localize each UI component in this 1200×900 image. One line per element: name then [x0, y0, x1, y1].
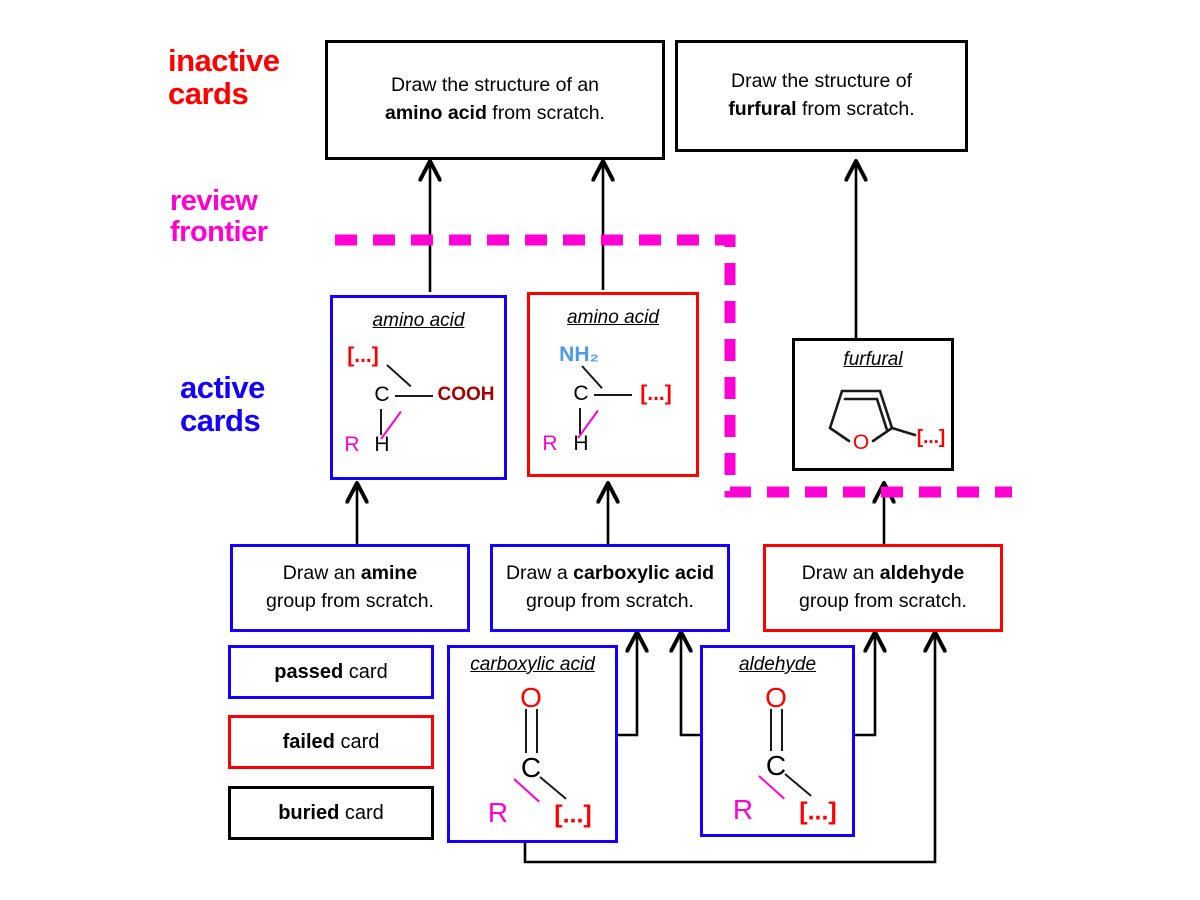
label-review-frontier: review frontier	[170, 186, 268, 249]
label-active-line2: cards	[180, 404, 265, 437]
review-frontier-path	[335, 240, 1012, 492]
label-frontier-line2: frontier	[170, 217, 268, 248]
label-inactive-line1: inactive	[168, 44, 279, 77]
label-frontier-line1: review	[170, 186, 268, 217]
diagram-canvas: inactive cards review frontier active ca…	[0, 0, 1200, 900]
label-active-line1: active	[180, 371, 265, 404]
label-active-cards: active cards	[180, 371, 265, 438]
label-inactive-cards: inactive cards	[168, 44, 279, 111]
label-inactive-line2: cards	[168, 77, 279, 110]
review-frontier-line	[0, 0, 1200, 900]
